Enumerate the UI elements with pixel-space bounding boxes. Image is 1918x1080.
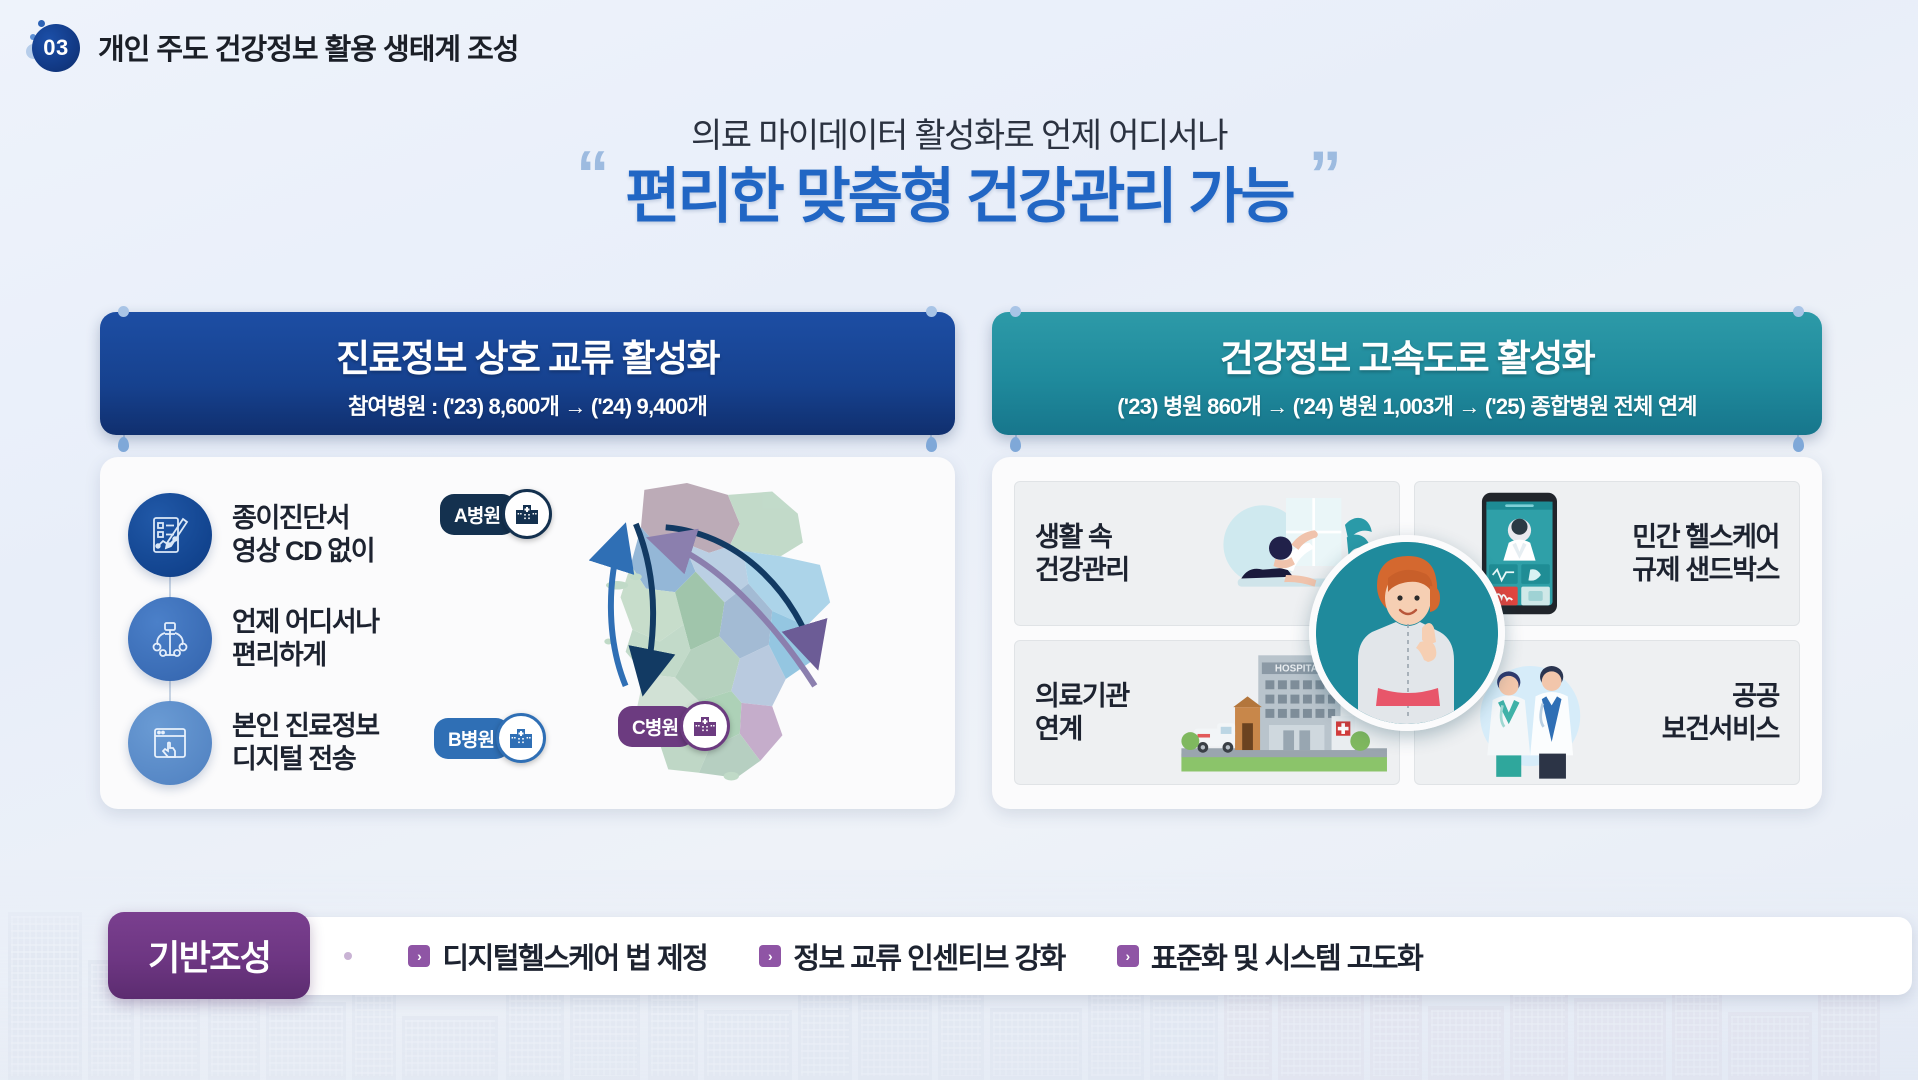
footer-item-2[interactable]: › 정보 교류 인센티브 강화 [759,935,1064,977]
map-marker-b-hospital[interactable]: B병원 [434,713,546,763]
section-number-badge: 03 [26,18,84,76]
right-panel-header: 건강정보 고속도로 활성화 ('23) 병원 860개 → ('24) 병원 1… [992,312,1822,435]
right-panel: 건강정보 고속도로 활성화 ('23) 병원 860개 → ('24) 병원 1… [992,312,1822,809]
korea-map: A병원 B병원 [458,483,933,783]
page-title: 개인 주도 건강정보 활용 생태계 조성 [98,26,519,68]
footer-bar: 기반조성 › 디지털헬스케어 법 제정 › 정보 교류 인센티브 강화 › 표준… [108,912,1912,999]
list-item: 언제 어디서나 편리하게 [128,587,458,691]
left-bullet-list: 종이진단서 영상 CD 없이 [128,483,458,783]
hospital-icon [680,701,730,751]
left-panel: 진료정보 상호 교류 활성화 참여병원 : ('23) 8,600개 → ('2… [100,312,955,809]
left-panel-body: 종이진단서 영상 CD 없이 [100,457,955,809]
document-pencil-icon [128,493,212,577]
footer-item-label: 디지털헬스케어 법 제정 [442,935,707,977]
footer-item-label: 정보 교류 인센티브 강화 [793,935,1064,977]
hospital-icon [502,489,552,539]
slide-main-title: 편리한 맞춤형 건강관리 가능 [625,148,1292,235]
list-item-label: 종이진단서 영상 CD 없이 [232,502,374,568]
pin-drop-left-a [118,437,129,452]
card-label: 공공 보건서비스 [1642,680,1799,746]
list-item-label: 본인 진료정보 디지털 전송 [232,710,379,776]
chevron-right-icon: › [1117,945,1139,967]
list-item-label: 언제 어디서나 편리하게 [232,606,379,672]
right-panel-body: 생활 속 건강관리 [992,457,1822,809]
pin-left-b [926,306,937,317]
hospital-icon [496,713,546,763]
slide-header: 03 개인 주도 건강정보 활용 생태계 조성 [26,18,519,76]
list-item: 본인 진료정보 디지털 전송 [128,691,458,795]
section-number: 03 [32,24,80,72]
footer-item-3[interactable]: › 표준화 및 시스템 고도화 [1117,935,1422,977]
chevron-right-icon: › [408,945,430,967]
person-thumbs-up-illustration [1309,535,1505,731]
left-panel-heading: 진료정보 상호 교류 활성화 [110,328,945,382]
card-label: 생활 속 건강관리 [1015,521,1149,587]
footer-items: › 디지털헬스케어 법 제정 › 정보 교류 인센티브 강화 › 표준화 및 시… [292,917,1912,995]
pin-drop-left-b [926,437,937,452]
pin-right-a [1010,306,1021,317]
pin-drop-right-b [1793,437,1804,452]
pin-drop-right-a [1010,437,1021,452]
browser-touch-icon [128,701,212,785]
pin-right-b [1793,306,1804,317]
left-panel-header: 진료정보 상호 교류 활성화 참여병원 : ('23) 8,600개 → ('2… [100,312,955,435]
card-label: 의료기관 연계 [1015,680,1149,746]
person-network-icon [128,597,212,681]
right-panel-subheading: ('23) 병원 860개 → ('24) 병원 1,003개 → ('25) … [1002,389,1812,421]
list-item: 종이진단서 영상 CD 없이 [128,483,458,587]
footer-tag: 기반조성 [108,912,310,999]
quote-open-icon: “ [576,148,609,201]
left-panel-subheading: 참여병원 : ('23) 8,600개 → ('24) 9,400개 [110,389,945,421]
slide-main-title-row: “ 편리한 맞춤형 건강관리 가능 ” [0,148,1918,235]
footer-item-1[interactable]: › 디지털헬스케어 법 제정 [408,935,707,977]
map-marker-a-hospital[interactable]: A병원 [440,489,552,539]
footer-item-label: 표준화 및 시스템 고도화 [1151,935,1422,977]
quote-close-icon: ” [1309,148,1342,201]
right-panel-heading: 건강정보 고속도로 활성화 [1002,328,1812,382]
pin-left-a [118,306,129,317]
footer-divider-dot [344,952,352,960]
chevron-right-icon: › [759,945,781,967]
map-marker-c-hospital[interactable]: C병원 [618,701,730,751]
card-label: 민간 헬스케어 규제 샌드박스 [1612,521,1799,587]
